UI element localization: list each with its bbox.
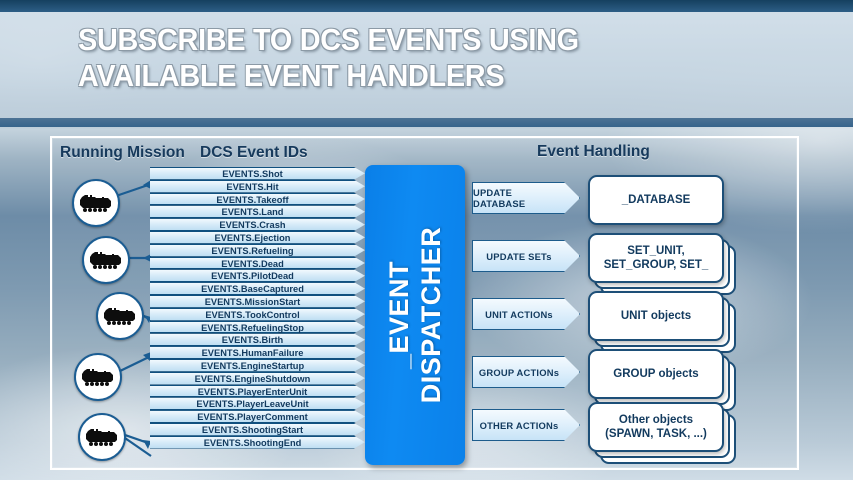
event-id-row[interactable]: EVENTS.MissionStart	[150, 295, 365, 308]
event-id-row[interactable]: EVENTS.PlayerLeaveUnit	[150, 397, 365, 410]
handler-card-front: Other objects(SPAWN, TASK, ...)	[588, 402, 724, 452]
handler-target-card[interactable]: SET_UNIT,SET_GROUP, SET_	[588, 233, 720, 279]
page-title-line-2: AVAILABLE EVENT HANDLERS	[78, 58, 729, 94]
handler-action-button[interactable]: GROUP ACTIONs	[472, 356, 580, 388]
mission-unit-icon-3	[96, 292, 144, 340]
handler-card-front: _DATABASE	[588, 175, 724, 225]
event-id-row[interactable]: EVENTS.Dead	[150, 257, 365, 270]
event-dispatcher-block: _EVENT DISPATCHER	[365, 165, 465, 465]
column-header-running-mission: Running Mission	[60, 144, 185, 162]
page-title: SUBSCRIBE TO DCS EVENTS USING AVAILABLE …	[78, 22, 729, 94]
event-id-row[interactable]: EVENTS.EngineStartup	[150, 359, 365, 372]
event-id-row[interactable]: EVENTS.PilotDead	[150, 269, 365, 282]
event-id-row[interactable]: EVENTS.Land	[150, 205, 365, 218]
event-id-row[interactable]: EVENTS.ShootingStart	[150, 423, 365, 436]
event-id-row[interactable]: EVENTS.Refueling	[150, 244, 365, 257]
mission-unit-icon-1	[72, 179, 120, 227]
event-id-row[interactable]: EVENTS.Takeoff	[150, 193, 365, 206]
mission-unit-icon-5	[78, 413, 126, 461]
dispatcher-line-2: DISPATCHER	[415, 227, 447, 404]
event-dispatcher-label: _EVENT DISPATCHER	[365, 165, 465, 465]
handler-target-line: (SPAWN, TASK, ...)	[605, 427, 707, 441]
handler-target-line: _DATABASE	[622, 193, 691, 207]
event-id-row[interactable]: EVENTS.EngineShutdown	[150, 372, 365, 385]
handler-card-front: GROUP objects	[588, 349, 724, 399]
handler-action-button[interactable]: UPDATE DATABASE	[472, 182, 580, 214]
armored-vehicle-icon	[89, 249, 123, 271]
page-title-line-1: SUBSCRIBE TO DCS EVENTS USING	[78, 22, 729, 58]
armored-vehicle-icon	[103, 305, 137, 327]
handler-action-button[interactable]: OTHER ACTIONs	[472, 409, 580, 441]
event-id-row[interactable]: EVENTS.Ejection	[150, 231, 365, 244]
event-id-row[interactable]: EVENTS.Crash	[150, 218, 365, 231]
column-header-event-handling: Event Handling	[537, 143, 650, 161]
event-id-row[interactable]: EVENTS.PlayerEnterUnit	[150, 385, 365, 398]
handler-target-line: SET_GROUP, SET_	[604, 258, 709, 272]
band-divider	[0, 118, 853, 127]
handler-target-line: GROUP objects	[613, 367, 698, 381]
handler-target-card[interactable]: UNIT objects	[588, 291, 720, 337]
event-id-row[interactable]: EVENTS.TookControl	[150, 308, 365, 321]
handler-target-line: SET_UNIT,	[604, 244, 709, 258]
armored-vehicle-icon	[79, 192, 113, 214]
handler-target-card[interactable]: GROUP objects	[588, 349, 720, 395]
event-id-row[interactable]: EVENTS.HumanFailure	[150, 346, 365, 359]
armored-vehicle-icon	[85, 426, 119, 448]
event-id-list: EVENTS.ShotEVENTS.HitEVENTS.TakeoffEVENT…	[150, 167, 365, 449]
handler-target-line: Other objects	[605, 413, 707, 427]
column-header-dcs-event-ids: DCS Event IDs	[200, 144, 308, 162]
event-id-row[interactable]: EVENTS.PlayerComment	[150, 410, 365, 423]
sky-top-strip	[0, 0, 853, 12]
handler-target-card[interactable]: _DATABASE	[588, 175, 720, 221]
mission-unit-icon-4	[74, 353, 122, 401]
handler-card-front: UNIT objects	[588, 291, 724, 341]
handler-card-front: SET_UNIT,SET_GROUP, SET_	[588, 233, 724, 283]
event-id-row[interactable]: EVENTS.BaseCaptured	[150, 282, 365, 295]
mission-unit-icon-2	[82, 236, 130, 284]
handler-action-button[interactable]: UNIT ACTIONs	[472, 298, 580, 330]
event-id-row[interactable]: EVENTS.RefuelingStop	[150, 321, 365, 334]
event-id-row[interactable]: EVENTS.Hit	[150, 180, 365, 193]
slide-stage: SUBSCRIBE TO DCS EVENTS USING AVAILABLE …	[0, 0, 853, 480]
handler-target-line: UNIT objects	[621, 309, 691, 323]
armored-vehicle-icon	[81, 366, 115, 388]
dispatcher-line-1: _EVENT	[383, 227, 415, 404]
event-id-row[interactable]: EVENTS.Shot	[150, 167, 365, 180]
handler-target-card[interactable]: Other objects(SPAWN, TASK, ...)	[588, 402, 720, 448]
handler-action-button[interactable]: UPDATE SETs	[472, 240, 580, 272]
event-id-row[interactable]: EVENTS.Birth	[150, 333, 365, 346]
event-id-row[interactable]: EVENTS.ShootingEnd	[150, 436, 365, 449]
